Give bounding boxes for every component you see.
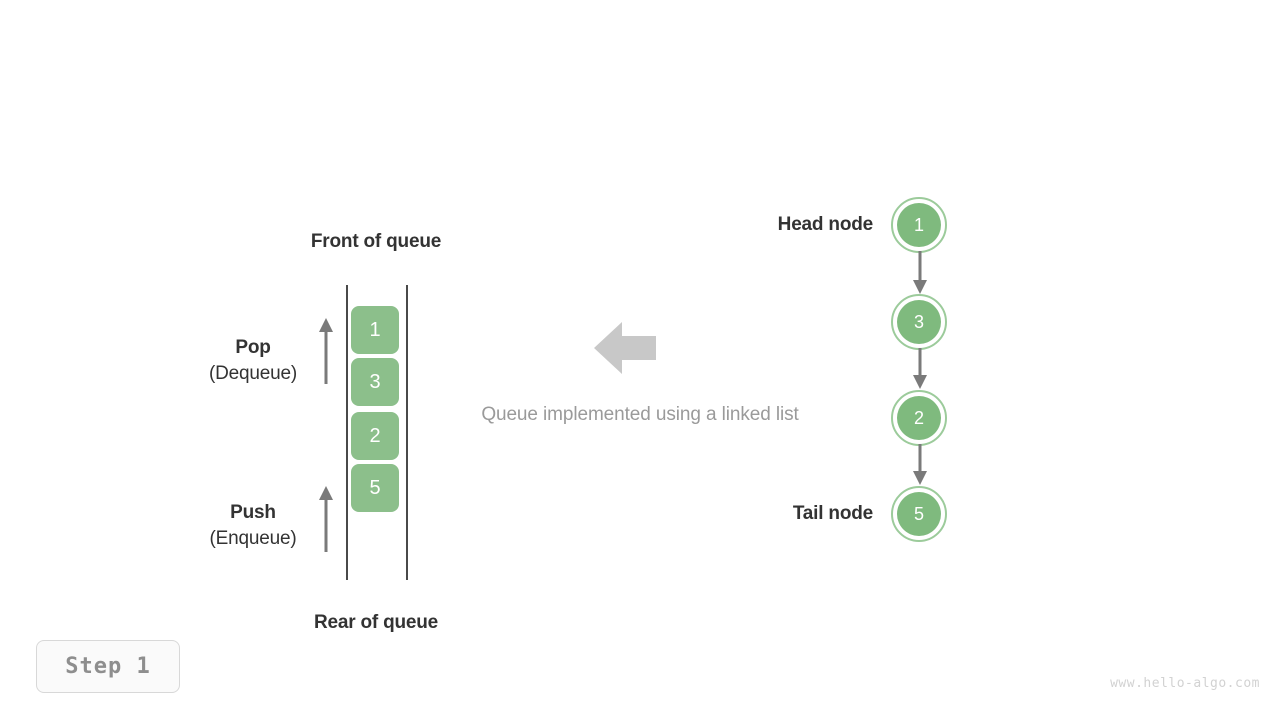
push-up-arrow-icon <box>316 486 336 552</box>
queue-cell: 1 <box>351 306 399 354</box>
link-arrow-icon <box>911 251 929 295</box>
front-of-queue-label: Front of queue <box>296 231 456 253</box>
push-label-main: Push <box>173 502 333 524</box>
push-operation-label: Push (Enqueue) <box>173 502 333 550</box>
queue-cell: 3 <box>351 358 399 406</box>
link-arrow-icon <box>911 348 929 390</box>
list-node-value: 5 <box>897 492 941 536</box>
list-node-value: 1 <box>897 203 941 247</box>
queue-rail-right <box>406 285 408 580</box>
list-node: 1 <box>891 197 947 253</box>
pop-label-sub: (Dequeue) <box>173 363 333 385</box>
queue-rail-left <box>346 285 348 580</box>
push-label-sub: (Enqueue) <box>173 528 333 550</box>
list-node-value: 2 <box>897 396 941 440</box>
head-node-label: Head node <box>673 214 873 236</box>
pop-operation-label: Pop (Dequeue) <box>173 337 333 385</box>
queue-cell: 5 <box>351 464 399 512</box>
pop-label-main: Pop <box>173 337 333 359</box>
tail-node-label: Tail node <box>673 503 873 525</box>
list-node: 3 <box>891 294 947 350</box>
pop-up-arrow-icon <box>316 318 336 384</box>
step-badge: Step 1 <box>36 640 180 693</box>
left-arrow-icon <box>594 320 656 376</box>
link-arrow-icon <box>911 444 929 486</box>
diagram-canvas: Front of queue 1 3 2 5 Pop (Dequeue) Pus… <box>0 0 1280 720</box>
list-node-value: 3 <box>897 300 941 344</box>
rear-of-queue-label: Rear of queue <box>296 612 456 634</box>
watermark: www.hello-algo.com <box>1110 676 1260 691</box>
list-node: 5 <box>891 486 947 542</box>
diagram-caption: Queue implemented using a linked list <box>360 404 920 426</box>
list-node: 2 <box>891 390 947 446</box>
